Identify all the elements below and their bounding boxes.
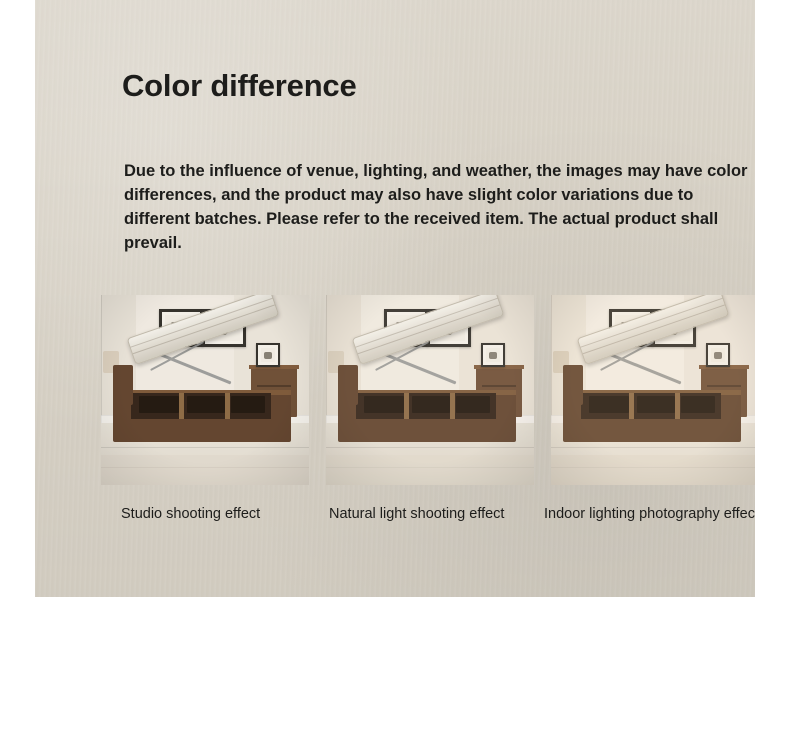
small-frame — [481, 343, 505, 367]
headboard — [563, 365, 583, 405]
nightstand-drawer-line — [707, 385, 740, 387]
small-frame-image — [264, 352, 273, 359]
small-frame-inner — [486, 348, 500, 362]
small-frame-inner — [261, 348, 275, 362]
floor-rug — [101, 455, 309, 485]
small-frame-image — [489, 352, 498, 359]
headboard — [113, 365, 133, 405]
page-root: Color difference Due to the influence of… — [0, 0, 790, 742]
bedroom-scene — [326, 295, 534, 485]
headboard — [338, 365, 358, 405]
photo-studio-shot — [101, 295, 309, 485]
storage-slot — [139, 396, 179, 413]
small-frame-inner — [711, 348, 725, 362]
storage-slot — [231, 396, 265, 413]
photo-gallery — [101, 295, 755, 485]
photo-indoor-lighting-shot — [551, 295, 755, 485]
storage-divider — [629, 393, 634, 419]
storage-slot — [456, 396, 490, 413]
caption-natural-light-shot: Natural light shooting effect — [329, 506, 504, 522]
storage-slot — [589, 396, 629, 413]
page-title: Color difference — [122, 68, 357, 104]
floor-rug — [551, 455, 755, 485]
floor-rug — [326, 455, 534, 485]
small-frame — [706, 343, 730, 367]
bedroom-scene — [551, 295, 755, 485]
small-frame-image — [714, 352, 723, 359]
photo-natural-light-shot — [326, 295, 534, 485]
storage-divider — [404, 393, 409, 419]
storage-divider — [225, 393, 230, 419]
caption-studio-shot: Studio shooting effect — [121, 506, 260, 522]
photo-captions: Studio shooting effect Natural light sho… — [101, 506, 755, 530]
storage-divider — [179, 393, 184, 419]
storage-slot — [187, 396, 225, 413]
storage-slot — [364, 396, 404, 413]
small-frame — [256, 343, 280, 367]
storage-slot — [637, 396, 675, 413]
storage-slot — [412, 396, 450, 413]
nightstand-drawer-line — [257, 385, 290, 387]
bedroom-scene — [101, 295, 309, 485]
nightstand-drawer-line — [482, 385, 515, 387]
caption-indoor-lighting-shot: Indoor lighting photography effect — [544, 506, 755, 522]
floor-seam — [326, 447, 534, 448]
storage-divider — [675, 393, 680, 419]
storage-slot — [681, 396, 715, 413]
floor-seam — [551, 447, 755, 448]
color-difference-panel: Color difference Due to the influence of… — [35, 0, 755, 597]
disclaimer-text: Due to the influence of venue, lighting,… — [124, 159, 749, 255]
floor-seam — [101, 447, 309, 448]
storage-divider — [450, 393, 455, 419]
